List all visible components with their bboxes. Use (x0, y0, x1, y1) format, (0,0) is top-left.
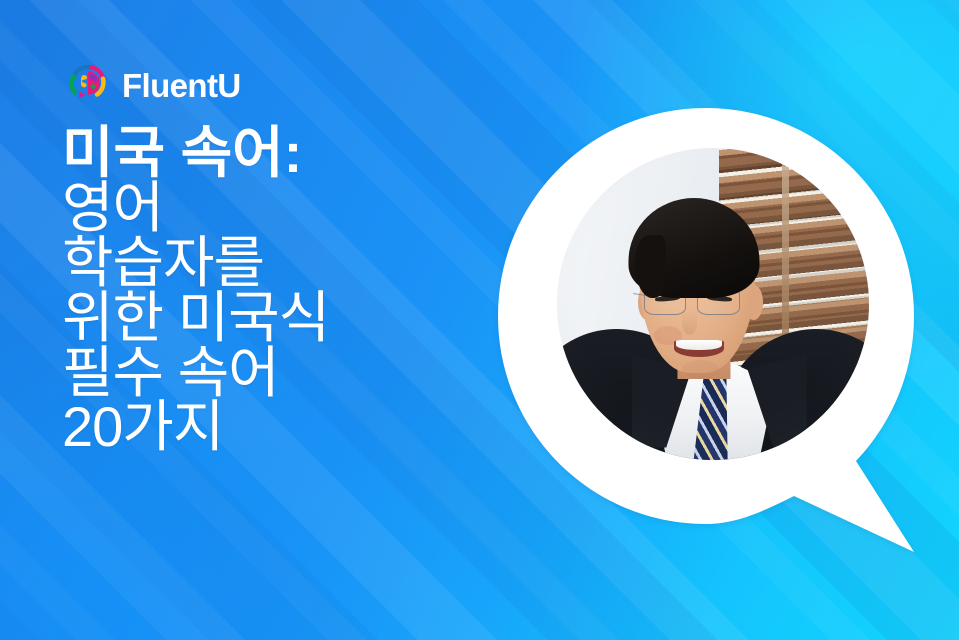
page-title: 미국 속어: 영어 학습자를 위한 미국식 필수 속어 20가지 (62, 126, 492, 455)
globe-speech-bubble-icon (64, 61, 110, 109)
fluentu-logo: FluentU (64, 61, 241, 109)
portrait-photo (557, 148, 869, 460)
page-title-line-1: 미국 속어: (62, 126, 492, 181)
photo-vignette (557, 148, 869, 460)
brand-name: FluentU (122, 69, 241, 102)
page-title-line-4: 위한 미국식 (62, 291, 492, 346)
page-title-line-2: 영어 (62, 181, 492, 236)
page-title-line-5: 필수 속어 (62, 346, 492, 401)
promo-graphic-canvas: FluentU 미국 속어: 영어 학습자를 위한 미국식 필수 속어 20가지 (0, 0, 959, 640)
page-title-line-6: 20가지 (62, 400, 492, 455)
page-title-line-3: 학습자를 (62, 236, 492, 291)
